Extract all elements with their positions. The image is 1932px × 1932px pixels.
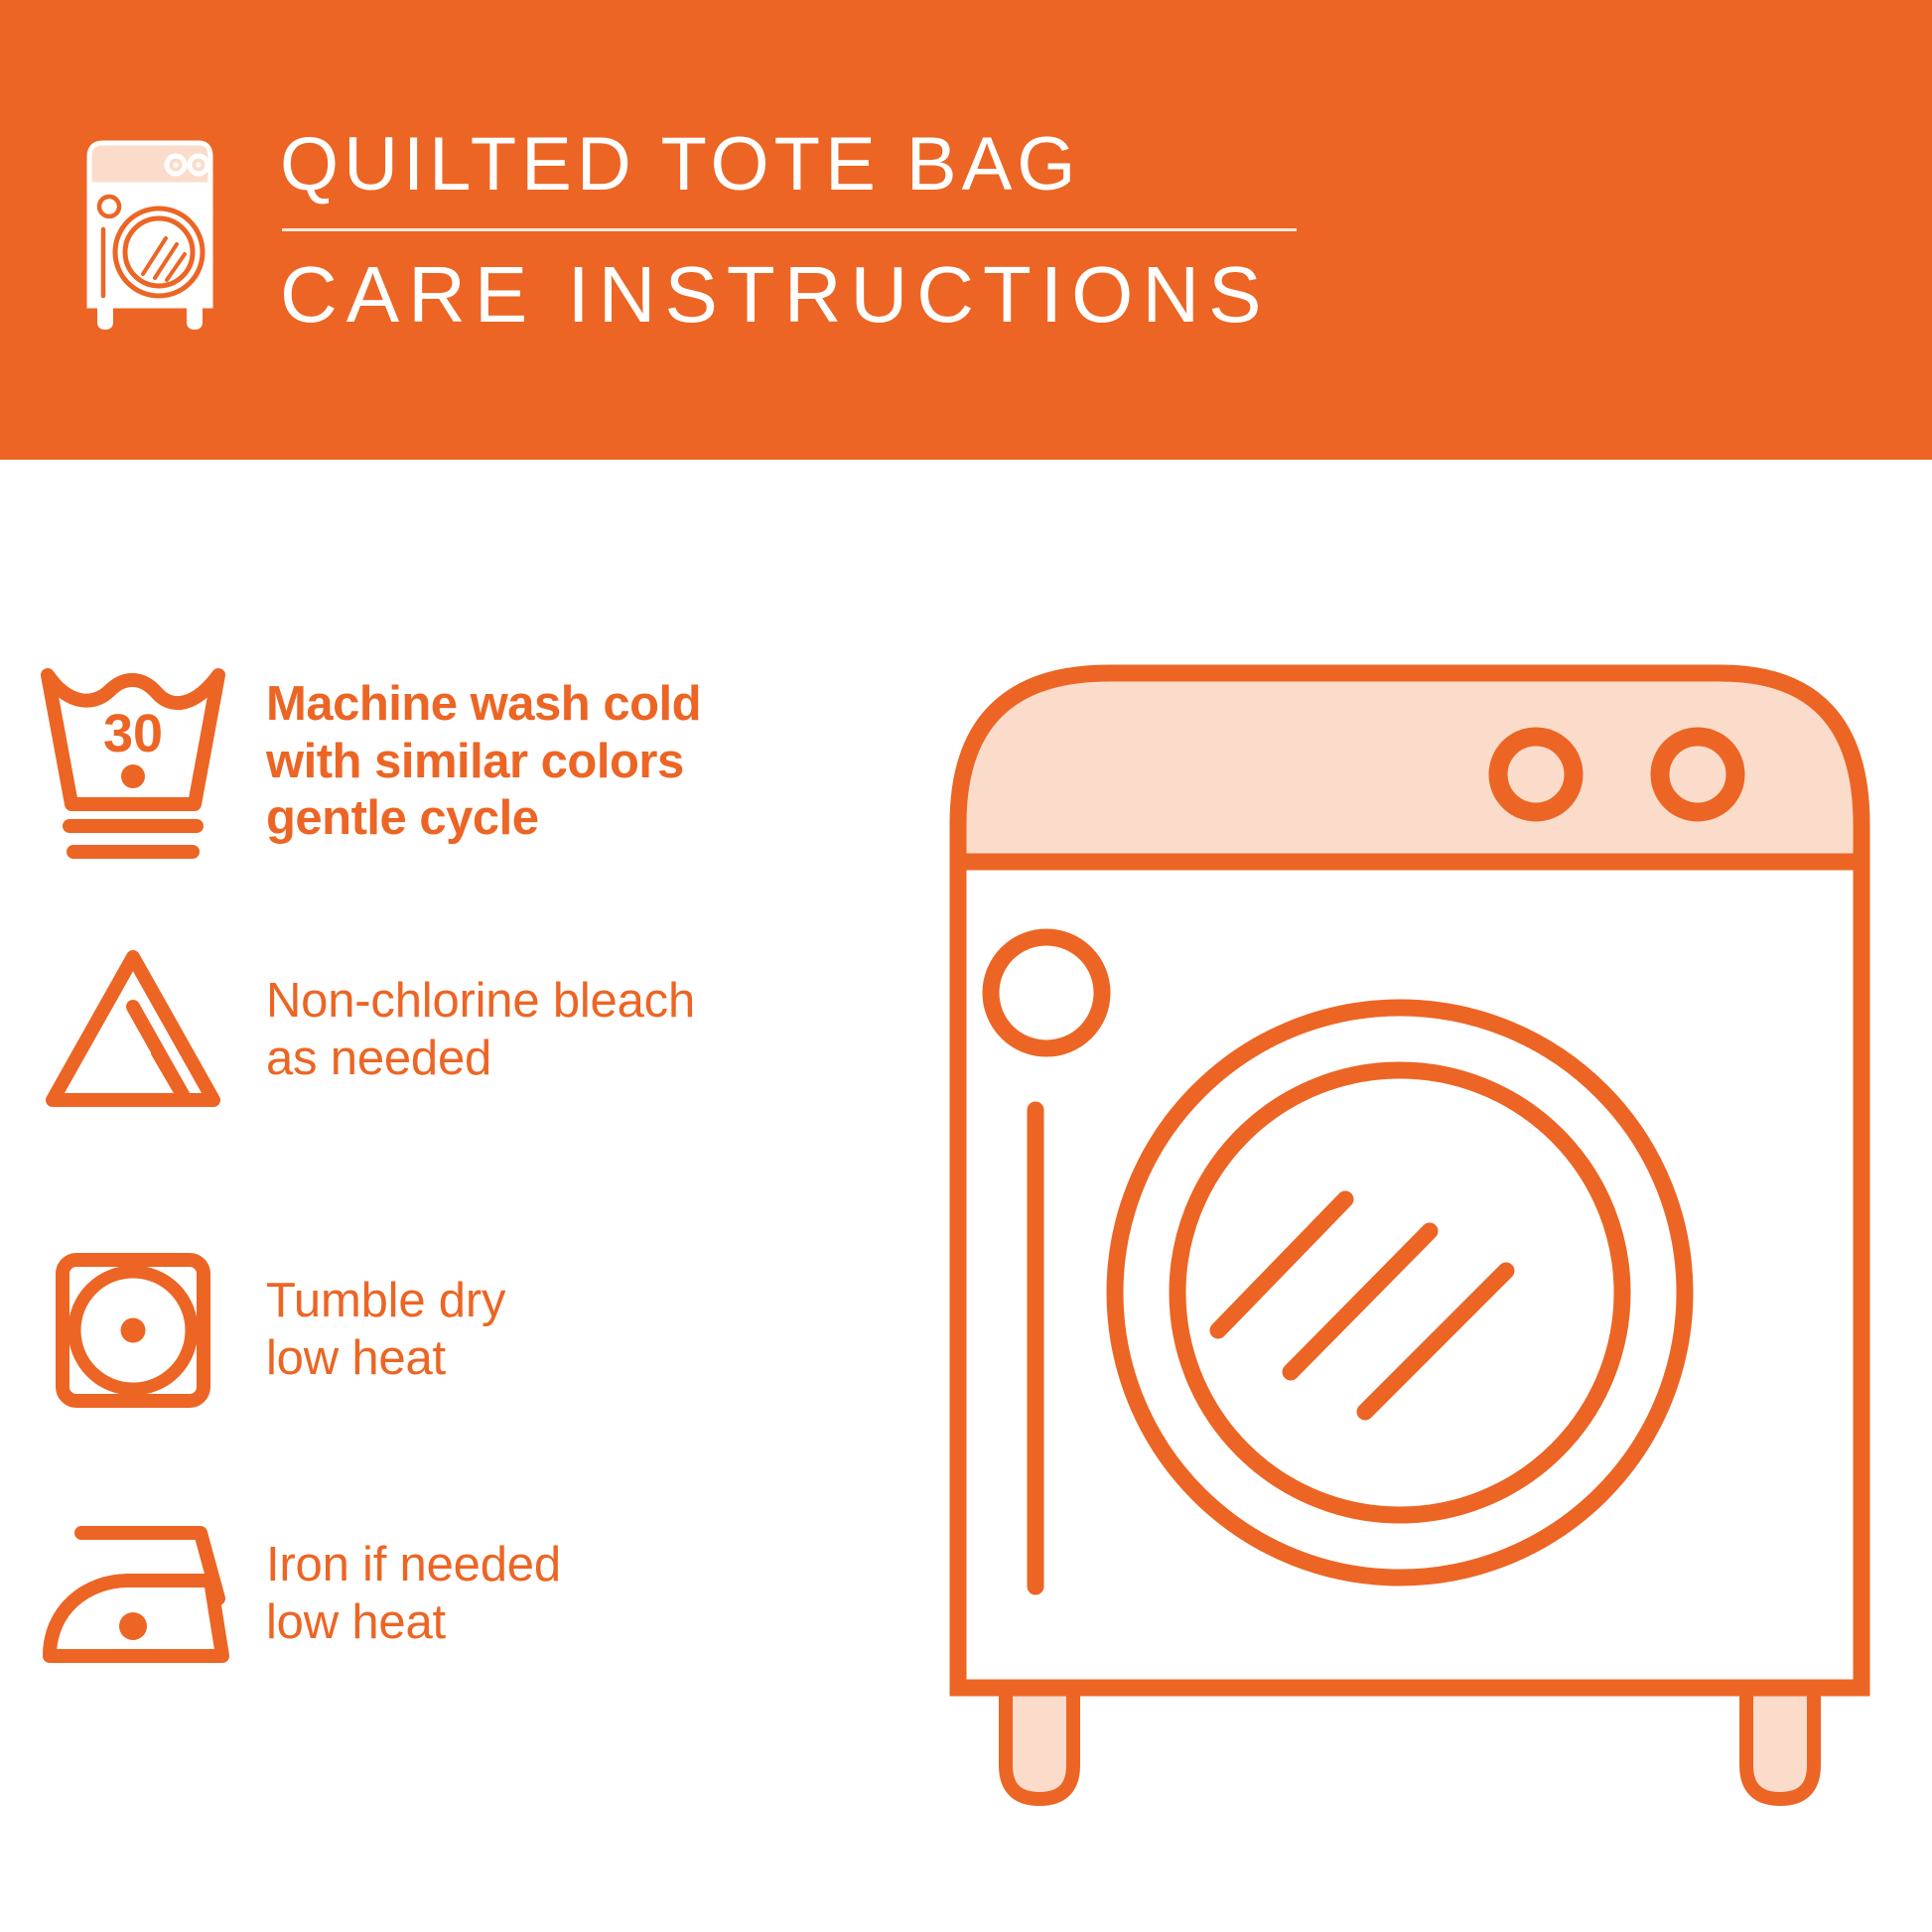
- care-row-bleach: Non-chlorine bleach as needed: [0, 943, 695, 1117]
- care-text-bleach: Non-chlorine bleach as needed: [266, 973, 695, 1088]
- header-content: QUILTED TOTE BAG CARE INSTRUCTIONS: [71, 127, 1297, 335]
- header-banner: QUILTED TOTE BAG CARE INSTRUCTIONS: [0, 0, 1932, 460]
- washing-machine-illustration: [948, 635, 1871, 1817]
- washing-machine-icon: [71, 135, 218, 330]
- care-text-machine-wash: Machine wash cold with similar colors ge…: [266, 676, 701, 848]
- care-text-tumble-dry: Tumble dry low heat: [266, 1273, 505, 1388]
- non-chlorine-bleach-triangle-icon: [0, 943, 266, 1117]
- care-text-iron: Iron if needed low heat: [266, 1537, 561, 1652]
- care-row-iron: Iron if needed low heat: [0, 1517, 561, 1671]
- tumble-dry-low-heat-icon: [0, 1251, 266, 1410]
- wash-temp-value: 30: [103, 704, 163, 763]
- wash-tub-30-gentle-icon: 30: [0, 655, 266, 869]
- header-title-block: QUILTED TOTE BAG CARE INSTRUCTIONS: [280, 127, 1297, 335]
- care-row-tumble-dry: Tumble dry low heat: [0, 1251, 505, 1410]
- page-subtitle: CARE INSTRUCTIONS: [280, 255, 1297, 335]
- care-row-machine-wash: 30 Machine wash cold with similar colors…: [0, 655, 701, 869]
- title-divider: [282, 228, 1297, 231]
- washer-knob-left: [1498, 737, 1574, 812]
- iron-low-heat-icon: [0, 1517, 266, 1671]
- page-title: QUILTED TOTE BAG: [280, 127, 1297, 203]
- washer-knob-right: [1660, 737, 1735, 812]
